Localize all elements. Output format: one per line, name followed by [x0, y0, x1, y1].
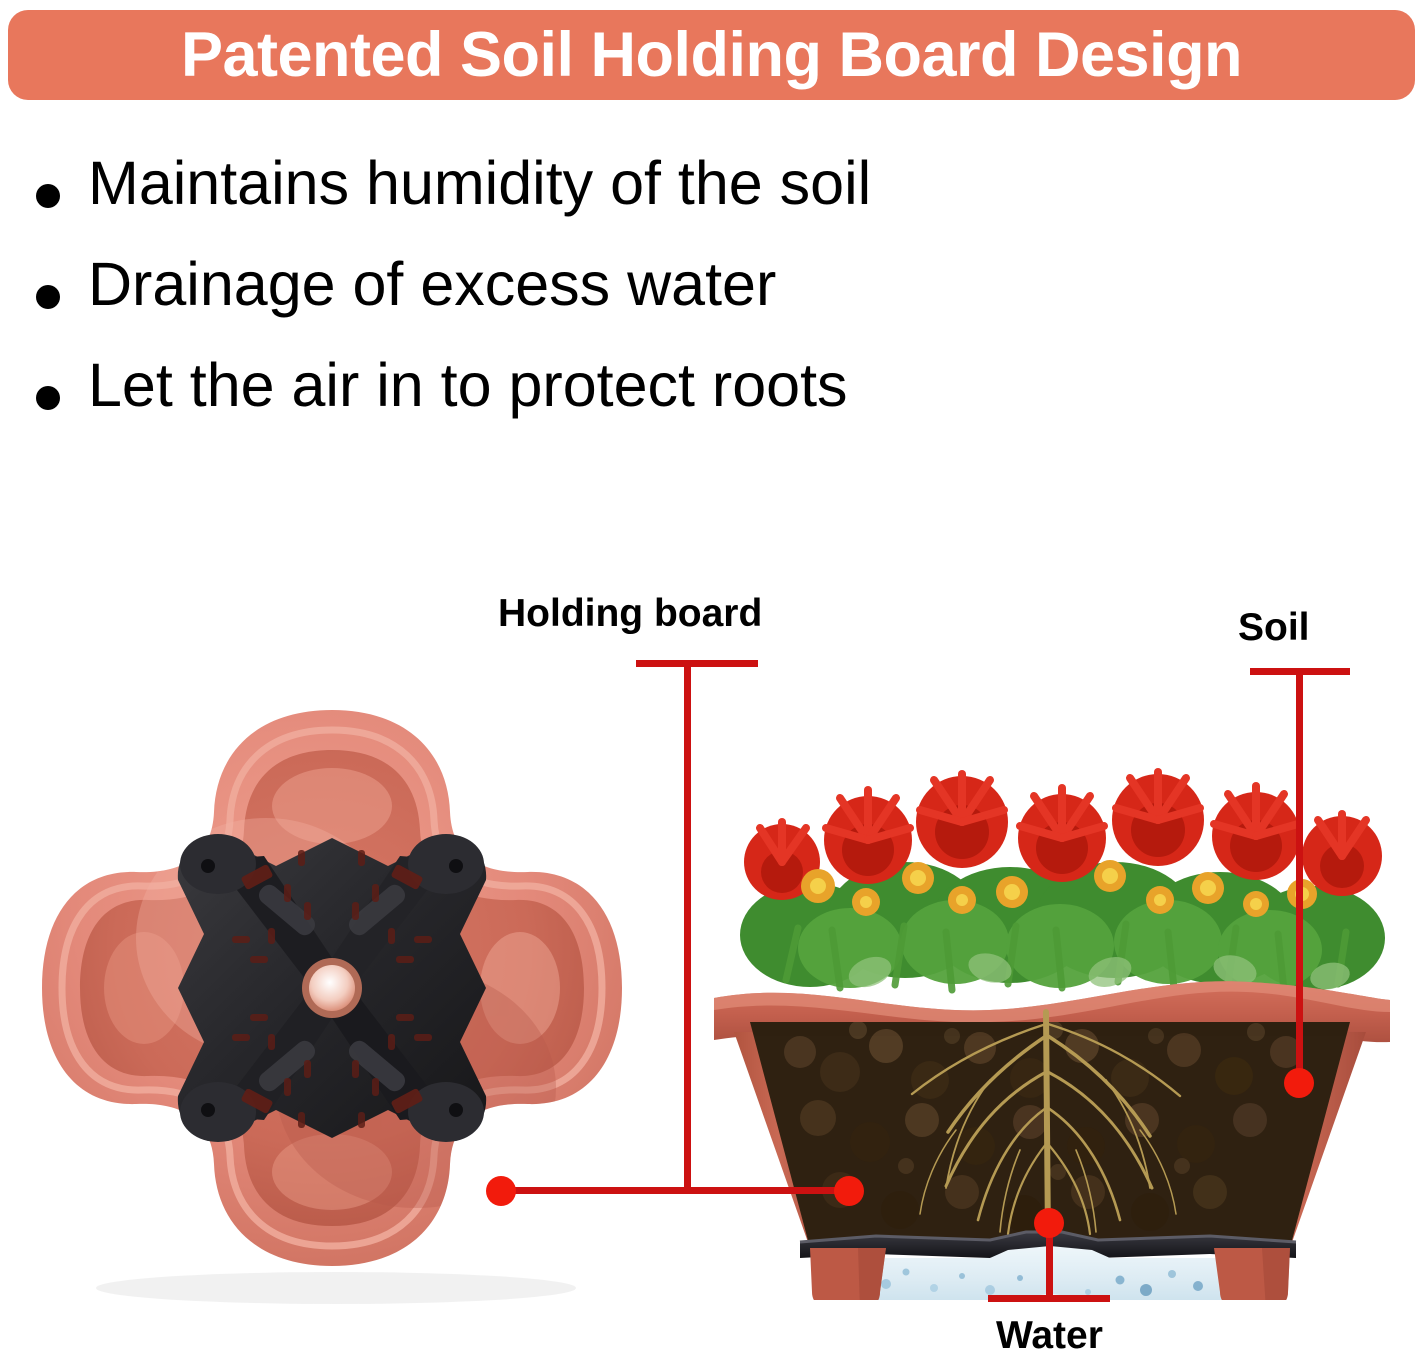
- leader-line-soil-vertical: [1296, 668, 1303, 1080]
- feature-text: Let the air in to protect roots: [88, 354, 848, 416]
- page-title: Patented Soil Holding Board Design: [181, 24, 1242, 87]
- leader-line-water-tbar: [988, 1295, 1110, 1302]
- callout-label-soil: Soil: [1238, 606, 1310, 650]
- product-diagram: Holding board Soil Water: [0, 560, 1424, 1368]
- bullet-dot-icon: [36, 386, 60, 410]
- leader-line-holding-board-vertical: [684, 660, 691, 1190]
- callout-label-holding-board: Holding board: [498, 592, 762, 636]
- leader-dot-holding-board-left: [486, 1176, 516, 1206]
- holding-board-insert: [178, 834, 486, 1142]
- leader-line-holding-board-bridge: [500, 1187, 852, 1194]
- planter-top-view-image: [36, 688, 628, 1328]
- feature-text: Maintains humidity of the soil: [88, 152, 871, 214]
- list-item: Maintains humidity of the soil: [36, 152, 1136, 253]
- list-item: Let the air in to protect roots: [36, 354, 1136, 455]
- callout-label-water: Water: [996, 1314, 1103, 1358]
- leader-dot-water: [1034, 1208, 1064, 1238]
- header-banner: Patented Soil Holding Board Design: [8, 10, 1415, 100]
- leader-dot-holding-board-right: [834, 1176, 864, 1206]
- leader-line-holding-board-tbar: [636, 660, 758, 667]
- feature-list: Maintains humidity of the soil Drainage …: [36, 152, 1136, 455]
- list-item: Drainage of excess water: [36, 253, 1136, 354]
- center-drain-hole-icon: [302, 958, 362, 1018]
- feature-text: Drainage of excess water: [88, 253, 776, 315]
- leader-dot-soil: [1284, 1068, 1314, 1098]
- bullet-dot-icon: [36, 184, 60, 208]
- bullet-dot-icon: [36, 285, 60, 309]
